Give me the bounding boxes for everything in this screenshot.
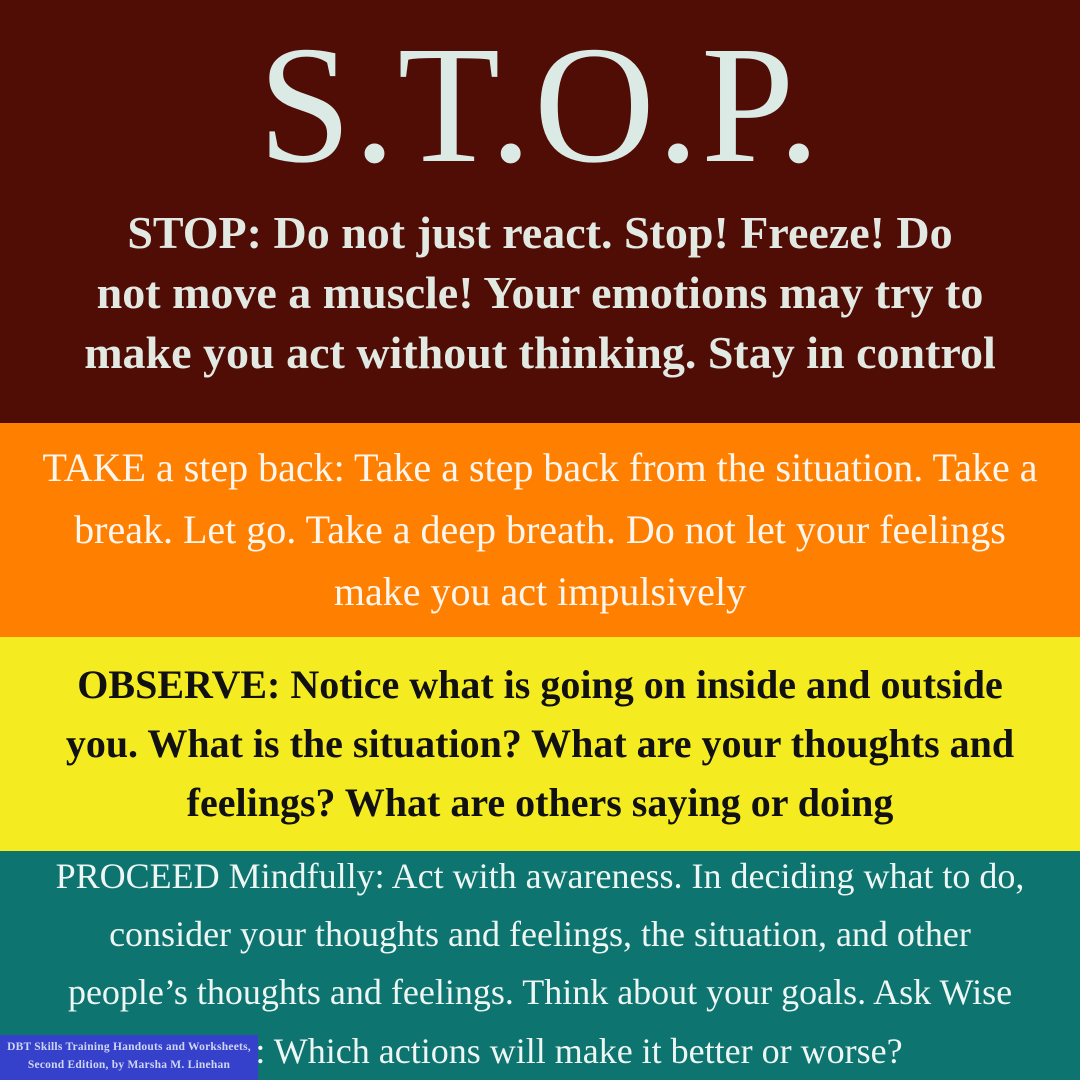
section-observe: OBSERVE: Notice what is going on inside …	[0, 637, 1080, 851]
page-title: S.T.O.P.	[0, 12, 1080, 197]
attribution-line-2: Second Edition, by Marsha M. Linehan	[28, 1057, 230, 1075]
section-observe-body: OBSERVE: Notice what is going on inside …	[20, 655, 1060, 833]
section-stop: S.T.O.P. STOP: Do not just react. Stop! …	[0, 0, 1080, 423]
section-take-body: TAKE a step back: Take a step back from …	[15, 437, 1065, 623]
attribution-line-1: DBT Skills Training Handouts and Workshe…	[7, 1039, 251, 1057]
stop-skill-poster: S.T.O.P. STOP: Do not just react. Stop! …	[0, 0, 1080, 1080]
section-proceed: PROCEED Mindfully: Act with awareness. I…	[0, 851, 1080, 1080]
section-take: TAKE a step back: Take a step back from …	[0, 423, 1080, 637]
attribution-badge: DBT Skills Training Handouts and Workshe…	[0, 1035, 258, 1080]
section-stop-body: STOP: Do not just react. Stop! Freeze! D…	[4, 203, 1076, 382]
